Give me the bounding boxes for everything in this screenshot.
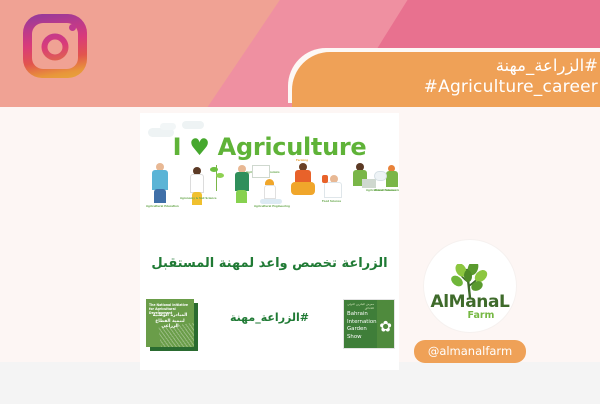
bahrain-garden-show-logo[interactable]: معرض البحرين الدولي للحدائق Bahrain Inte… xyxy=(343,299,395,349)
flower-icon: ✿ xyxy=(379,319,392,334)
logo-arabic-text: معرض البحرين الدولي للحدائق xyxy=(347,303,374,310)
brand-handle[interactable]: @almanalfarm xyxy=(414,340,526,363)
heart-icon: ♥ xyxy=(189,135,209,161)
instagram-icon-inner xyxy=(32,23,78,69)
tool-icon xyxy=(322,175,328,183)
figure-label: Agricultural Education xyxy=(146,205,179,208)
logo-text-block: معرض البحرين الدولي للحدائق Bahrain Inte… xyxy=(344,300,377,348)
water-icon xyxy=(260,199,282,204)
illustration-title-main: Agriculture xyxy=(218,133,367,161)
figure-label: Animal Science xyxy=(374,189,396,192)
figure-label: Agricultural Engineering xyxy=(254,205,290,208)
figure-body xyxy=(152,170,168,190)
figure-body xyxy=(190,174,204,193)
figure-body xyxy=(386,171,398,187)
instagram-lens-icon xyxy=(42,33,69,60)
logo-line-2: International xyxy=(347,319,374,326)
illustration-title-prefix: I xyxy=(173,133,182,161)
hashtag-arabic: #الزراعة_مهنة xyxy=(292,56,598,76)
national-initiative-logo[interactable]: The National Initiative for Agricultural… xyxy=(146,299,198,351)
cloud-icon xyxy=(182,121,204,129)
brand-subtitle: Farm xyxy=(424,310,516,321)
palm-leaf-icon xyxy=(158,322,194,347)
logo-mark: ✿ xyxy=(377,300,394,348)
profession-figures: Agricultural Education Agronomy & Soil S… xyxy=(140,163,399,223)
chart-board-icon xyxy=(252,165,270,178)
page-root: #الزراعة_مهنة #Agriculture_career I ♥ Ag… xyxy=(0,0,600,404)
desk-icon xyxy=(362,179,376,188)
logo-line-4: Show xyxy=(347,334,374,341)
wheat-icon xyxy=(291,182,315,195)
figure-legs xyxy=(154,189,166,203)
figure-label: Agronomy & Soil Science xyxy=(180,197,217,200)
agriculture-illustration: I ♥ Agriculture Agricultural Education xyxy=(140,113,399,223)
instagram-icon[interactable] xyxy=(23,14,87,78)
figure-label: Food Science xyxy=(322,200,341,203)
sheep-icon xyxy=(374,171,387,181)
logo-face: The National Initiative for Agricultural… xyxy=(146,299,194,347)
instagram-dot-icon xyxy=(69,24,76,31)
figure-label: Farming xyxy=(296,159,308,162)
page-header: #الزراعة_مهنة #Agriculture_career xyxy=(0,0,600,107)
figure-body xyxy=(264,185,276,199)
figure-legs xyxy=(236,190,247,203)
hashtag-english: #Agriculture_career xyxy=(292,76,598,98)
cloud-icon xyxy=(160,123,176,130)
hashtag-banner: #الزراعة_مهنة #Agriculture_career xyxy=(292,52,600,107)
brand-profile: AlManaL Farm @almanalfarm xyxy=(413,240,527,363)
labcoat-icon xyxy=(324,182,342,198)
brand-avatar[interactable]: AlManaL Farm xyxy=(424,240,516,332)
logo-line-1: Bahrain xyxy=(347,311,374,318)
illustration-title: I ♥ Agriculture xyxy=(140,133,399,161)
post-card[interactable]: I ♥ Agriculture Agricultural Education xyxy=(140,113,399,370)
logo-line-3: Garden xyxy=(347,326,374,333)
brand-name: AlManaL xyxy=(424,292,516,312)
post-headline: الزراعة تخصص واعد لمهنة المستقبل xyxy=(140,255,399,273)
figure-body xyxy=(235,172,249,191)
